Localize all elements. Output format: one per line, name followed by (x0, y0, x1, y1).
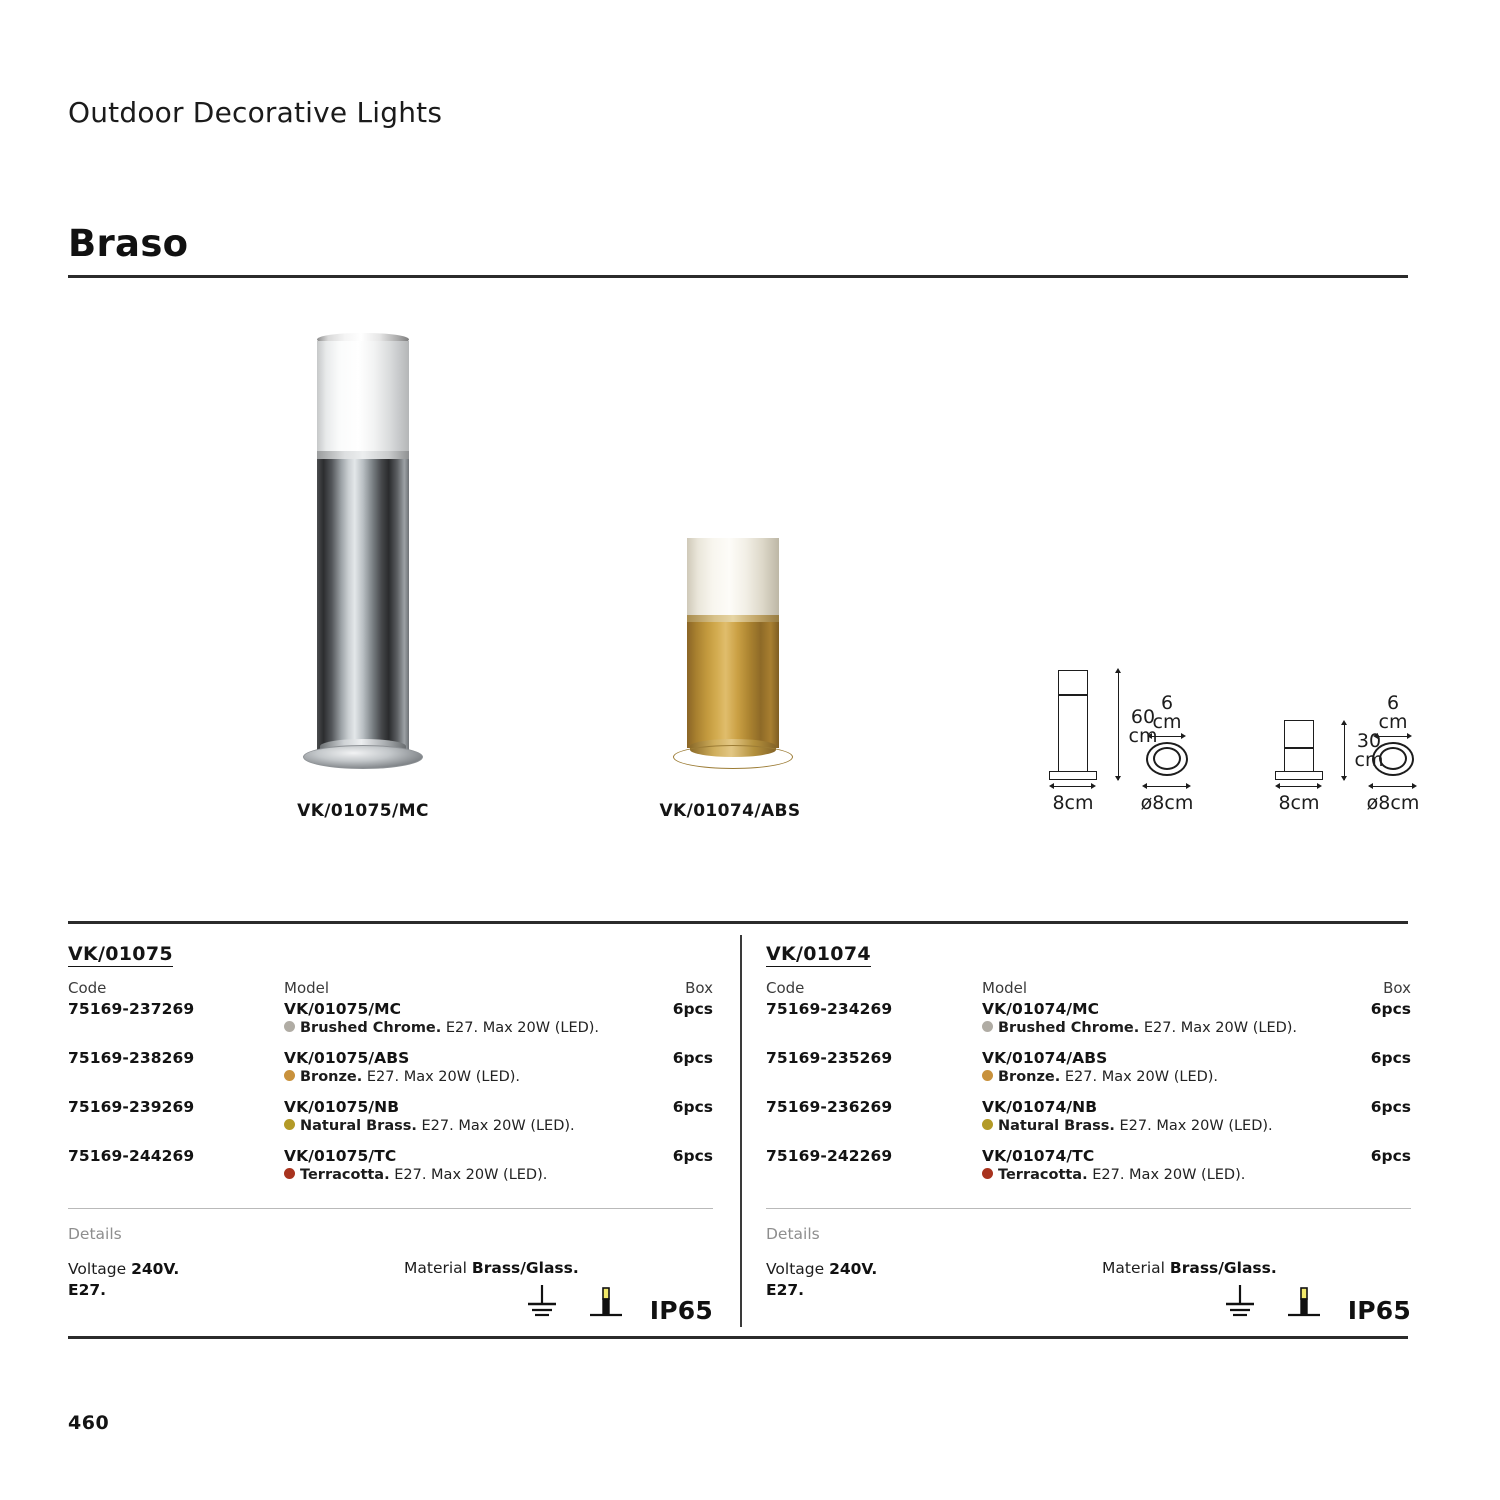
silhouette-diffuser-band (1058, 694, 1088, 696)
row-box: 6pcs (673, 1098, 713, 1116)
finish-spec: E27. Max 20W (LED). (446, 1020, 599, 1036)
row-code: 75169-234269 (766, 1000, 892, 1018)
row-box: 6pcs (1371, 1098, 1411, 1116)
details-divider (68, 1208, 713, 1209)
finish-spec: E27. Max 20W (LED). (367, 1069, 520, 1085)
diameter-arrow-right (1186, 783, 1191, 789)
details-label: Details (766, 1225, 1411, 1243)
finish-swatch-icon (982, 1119, 993, 1130)
table-row[interactable]: 75169-234269 VK/01074/MC 6pcs Brushed Ch… (766, 1000, 1411, 1049)
column-header-model: Model (284, 979, 329, 997)
row-box: 6pcs (1371, 1147, 1411, 1165)
diameter-arrow-left (1368, 783, 1373, 789)
top-width-arrow-left (1373, 733, 1378, 739)
row-description: Brushed Chrome. E27. Max 20W (LED). (284, 1020, 599, 1036)
table-top-divider (68, 921, 1408, 924)
finish-name: Terracotta. (998, 1167, 1088, 1183)
finish-name: Bronze. (300, 1069, 362, 1085)
diameter-line (1145, 786, 1189, 787)
column-header-box: Box (1383, 979, 1411, 997)
material-info: Material Brass/Glass. (1102, 1259, 1277, 1277)
base-width-arrow-right (1317, 783, 1322, 789)
silhouette-diffuser-band (1284, 747, 1314, 749)
base-disc (673, 745, 793, 769)
base-width-label: 8cm (1275, 794, 1323, 813)
diffuser-frosted (687, 538, 779, 622)
row-model: VK/01074/NB (982, 1098, 1097, 1116)
product-image-vk-01075-mc (317, 333, 409, 773)
silhouette-base (1275, 771, 1323, 780)
row-code: 75169-239269 (68, 1098, 194, 1116)
top-width-label: 6 cm (1150, 694, 1184, 733)
row-box: 6pcs (673, 1000, 713, 1018)
table-row[interactable]: 75169-238269 VK/01075/ABS 6pcs Bronze. E… (68, 1049, 713, 1098)
voltage-value: 240V. (829, 1260, 877, 1278)
table-row[interactable]: 75169-235269 VK/01074/ABS 6pcs Bronze. E… (766, 1049, 1411, 1098)
finish-swatch-icon (284, 1021, 295, 1032)
product-caption-2: VK/01074/ABS (600, 801, 860, 821)
base-width-arrow-left (1049, 783, 1054, 789)
table-header-row: Code Model Box (68, 979, 713, 998)
voltage-value: 240V. (131, 1260, 179, 1278)
top-width-line (1150, 736, 1184, 737)
details-label: Details (68, 1225, 713, 1243)
page-bottom-divider (68, 1336, 1408, 1339)
voltage-label: Voltage (766, 1260, 824, 1278)
page-title: Braso (68, 222, 188, 265)
finish-name: Brushed Chrome. (300, 1020, 441, 1036)
material-label: Material (1102, 1259, 1165, 1277)
row-code: 75169-235269 (766, 1049, 892, 1067)
material-label: Material (404, 1259, 467, 1277)
diameter-arrow-left (1142, 783, 1147, 789)
diameter-line (1371, 786, 1415, 787)
row-code: 75169-242269 (766, 1147, 892, 1165)
height-arrow-top (1341, 720, 1347, 725)
top-view-inner-circle (1153, 747, 1181, 770)
row-box: 6pcs (1371, 1049, 1411, 1067)
finish-swatch-icon (284, 1119, 295, 1130)
table-row[interactable]: 75169-236269 VK/01074/NB 6pcs Natural Br… (766, 1098, 1411, 1147)
row-code: 75169-244269 (68, 1147, 194, 1165)
sku-heading: VK/01074 (766, 943, 871, 967)
base-disc (303, 745, 423, 769)
finish-spec: E27. Max 20W (LED). (1092, 1167, 1245, 1183)
height-dimension-line (1118, 672, 1119, 780)
base-width-line (1278, 786, 1320, 787)
table-header-row: Code Model Box (766, 979, 1411, 998)
row-description: Bronze. E27. Max 20W (LED). (982, 1069, 1218, 1085)
top-width-arrow-left (1147, 733, 1152, 739)
product-caption-1: VK/01075/MC (233, 801, 493, 821)
diameter-label: ø8cm (1365, 794, 1421, 813)
row-description: Natural Brass. E27. Max 20W (LED). (284, 1118, 575, 1134)
ip-rating-label: IP65 (1348, 1298, 1411, 1325)
top-width-label: 6 cm (1376, 694, 1410, 733)
table-row[interactable]: 75169-244269 VK/01075/TC 6pcs Terracotta… (68, 1147, 713, 1196)
finish-spec: E27. Max 20W (LED). (394, 1167, 547, 1183)
dimension-diagram-60cm: 60 cm 8cm 6 cm ø8cm (1046, 668, 1246, 818)
column-divider (740, 935, 742, 1327)
row-code: 75169-238269 (68, 1049, 194, 1067)
finish-name: Bronze. (998, 1069, 1060, 1085)
product-table-vk-01075: VK/01075 Code Model Box 75169-237269 VK/… (68, 943, 713, 1305)
dimension-diagram-30cm: 30 cm 8cm 6 cm ø8cm (1272, 668, 1472, 818)
finish-spec: E27. Max 20W (LED). (1144, 1020, 1297, 1036)
row-model: VK/01075/NB (284, 1098, 399, 1116)
top-width-arrow-right (1181, 733, 1186, 739)
row-code: 75169-236269 (766, 1098, 892, 1116)
catalog-page: Outdoor Decorative Lights Braso VK/01075… (0, 0, 1500, 1500)
certification-icons-left: IP65 (68, 1285, 713, 1325)
column-header-box: Box (685, 979, 713, 997)
product-image-vk-01074-abs (687, 531, 779, 773)
bollard-body-chrome (317, 459, 409, 751)
page-number: 460 (68, 1412, 109, 1434)
title-divider (68, 275, 1408, 278)
height-arrow-bottom (1341, 776, 1347, 781)
row-model: VK/01075/MC (284, 1000, 401, 1018)
ip-rating-label: IP65 (650, 1298, 713, 1325)
finish-spec: E27. Max 20W (LED). (1065, 1069, 1218, 1085)
table-row[interactable]: 75169-239269 VK/01075/NB 6pcs Natural Br… (68, 1098, 713, 1147)
base-plate (317, 739, 409, 773)
earth-ground-icon (1220, 1283, 1260, 1325)
finish-swatch-icon (982, 1168, 993, 1179)
bollard-ground-mount-icon (584, 1283, 628, 1325)
diameter-label: ø8cm (1139, 794, 1195, 813)
finish-spec: E27. Max 20W (LED). (1120, 1118, 1273, 1134)
silhouette-base (1049, 771, 1097, 780)
table-row[interactable]: 75169-237269 VK/01075/MC 6pcs Brushed Ch… (68, 1000, 713, 1049)
certification-icons-right: IP65 (766, 1285, 1411, 1325)
sku-heading: VK/01075 (68, 943, 173, 967)
finish-spec: E27. Max 20W (LED). (422, 1118, 575, 1134)
row-box: 6pcs (673, 1147, 713, 1165)
row-model: VK/01075/TC (284, 1147, 396, 1165)
finish-name: Natural Brass. (300, 1118, 417, 1134)
voltage-label: Voltage (68, 1260, 126, 1278)
row-box: 6pcs (673, 1049, 713, 1067)
product-table-vk-01074: VK/01074 Code Model Box 75169-234269 VK/… (766, 943, 1411, 1305)
finish-name: Natural Brass. (998, 1118, 1115, 1134)
diffuser-clear (317, 341, 409, 459)
row-model: VK/01074/ABS (982, 1049, 1107, 1067)
bollard-ground-mount-icon (1282, 1283, 1326, 1325)
row-model: VK/01075/ABS (284, 1049, 409, 1067)
material-value: Brass/Glass. (1170, 1259, 1277, 1277)
bollard-body-bronze (687, 622, 779, 748)
material-value: Brass/Glass. (472, 1259, 579, 1277)
height-dimension-line (1344, 724, 1345, 780)
column-header-code: Code (766, 979, 804, 997)
base-width-label: 8cm (1049, 794, 1097, 813)
height-arrow-top (1115, 668, 1121, 673)
finish-name: Terracotta. (300, 1167, 390, 1183)
section-kicker: Outdoor Decorative Lights (68, 96, 442, 129)
base-width-arrow-right (1091, 783, 1096, 789)
row-box: 6pcs (1371, 1000, 1411, 1018)
row-description: Terracotta. E27. Max 20W (LED). (982, 1167, 1245, 1183)
silhouette-outline (1058, 670, 1088, 776)
finish-swatch-icon (982, 1021, 993, 1032)
finish-swatch-icon (284, 1168, 295, 1179)
column-header-code: Code (68, 979, 106, 997)
row-model: VK/01074/MC (982, 1000, 1099, 1018)
height-arrow-bottom (1115, 776, 1121, 781)
top-width-line (1376, 736, 1410, 737)
row-model: VK/01074/TC (982, 1147, 1094, 1165)
top-width-arrow-right (1407, 733, 1412, 739)
diameter-arrow-right (1412, 783, 1417, 789)
details-divider (766, 1208, 1411, 1209)
row-description: Brushed Chrome. E27. Max 20W (LED). (982, 1020, 1297, 1036)
base-width-arrow-left (1275, 783, 1280, 789)
table-row[interactable]: 75169-242269 VK/01074/TC 6pcs Terracotta… (766, 1147, 1411, 1196)
base-plate (687, 739, 779, 773)
earth-ground-icon (522, 1283, 562, 1325)
material-info: Material Brass/Glass. (404, 1259, 579, 1277)
row-code: 75169-237269 (68, 1000, 194, 1018)
finish-swatch-icon (284, 1070, 295, 1081)
row-description: Terracotta. E27. Max 20W (LED). (284, 1167, 547, 1183)
top-view-inner-circle (1379, 747, 1407, 770)
column-header-model: Model (982, 979, 1027, 997)
row-description: Bronze. E27. Max 20W (LED). (284, 1069, 520, 1085)
base-width-line (1052, 786, 1094, 787)
row-description: Natural Brass. E27. Max 20W (LED). (982, 1118, 1273, 1134)
finish-name: Brushed Chrome. (998, 1020, 1139, 1036)
finish-swatch-icon (982, 1070, 993, 1081)
